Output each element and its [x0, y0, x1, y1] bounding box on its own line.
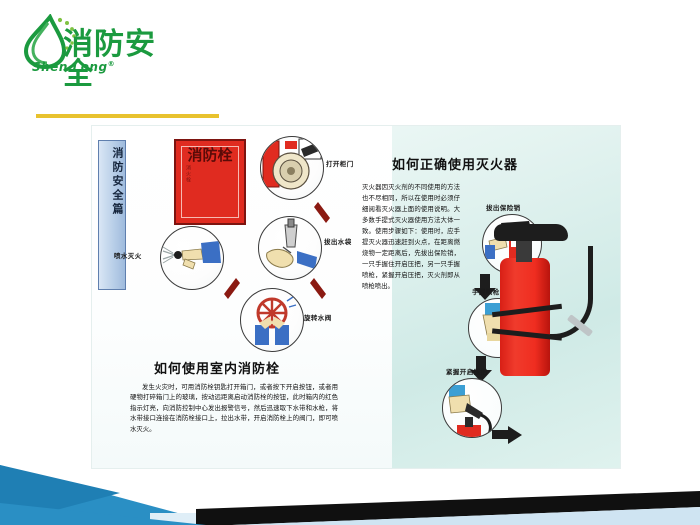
- brand-logo: 消防安全 Shen Long®: [18, 14, 168, 76]
- accent-rule: [36, 114, 219, 118]
- presentation-slide: 消防安全 Shen Long® 消防安全篇 消防栓 消火栓: [0, 0, 700, 525]
- extinguisher-body: [500, 258, 550, 376]
- vertical-banner-text: 消防安全篇: [99, 141, 125, 217]
- extinguisher-handle: [494, 224, 568, 241]
- step-label-hold-nozzle: 手握喷枪: [472, 286, 500, 296]
- arrow-down-2-icon: [310, 278, 330, 300]
- step-circle-spray-water: [160, 226, 224, 290]
- right-section-title: 如何正确使用灭火器: [392, 154, 518, 173]
- step-label-turn-valve: 旋转水阀: [304, 312, 332, 322]
- step-label-pull-hose: 拔出水袋: [324, 236, 352, 246]
- step-label-squeeze-handle: 紧握开启压把: [446, 366, 487, 376]
- extinguisher-neck: [516, 238, 532, 262]
- pull-hose-icon: [259, 217, 321, 279]
- step-circle-pull-hose: [258, 216, 322, 280]
- cabinet-side-label: 消火栓: [185, 165, 192, 183]
- hydrant-cabinet-icon: 消防栓 消火栓: [174, 139, 246, 225]
- vertical-banner: 消防安全篇: [98, 140, 126, 290]
- step-circle-turn-valve: [240, 288, 304, 352]
- cabinet-label: 消防栓: [176, 147, 244, 164]
- cabinet-door-open-icon: [261, 137, 323, 199]
- registered-mark: ®: [108, 60, 116, 68]
- slide-decoration: [0, 395, 700, 525]
- step-circle-open-door: [260, 136, 324, 200]
- left-section-title: 如何使用室内消防栓: [154, 358, 280, 377]
- arrow-down-1-icon: [314, 202, 334, 224]
- step-label-spray-water: 喷水灭火: [114, 250, 142, 260]
- turn-valve-icon: [241, 289, 303, 351]
- spray-water-icon: [161, 227, 223, 289]
- logo-english-text: Shen Long®: [32, 60, 115, 74]
- step-label-pull-pin: 拔出保险销: [486, 202, 521, 212]
- arrow-left-icon: [218, 276, 240, 300]
- step-label-open-door: 打开柜门: [326, 158, 354, 168]
- right-section-body: 灭火器因灭火剂的不同使用的方法也不尽相同，所以在使用时必须仔细阅看灭火器上面的使…: [362, 182, 460, 292]
